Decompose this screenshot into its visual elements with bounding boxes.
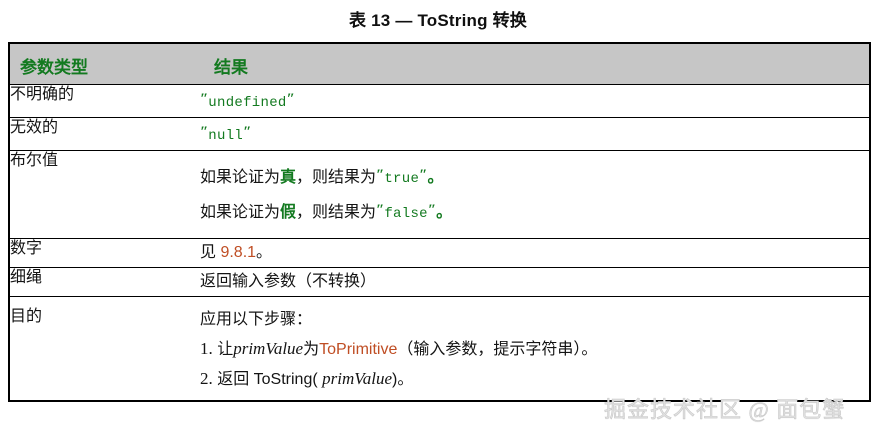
toprimitive-link[interactable]: ToPrimitive bbox=[319, 341, 397, 358]
tostring-call: ToString( bbox=[254, 371, 318, 388]
object-step-2: 2. 返回 ToString( primValue)。 bbox=[200, 364, 869, 394]
boolean-false-emphasis: 假 bbox=[280, 204, 296, 221]
row-type-object: 目的 bbox=[9, 297, 200, 402]
see-prefix: 见 bbox=[200, 244, 220, 261]
row-result-null: ″null″ bbox=[200, 118, 870, 151]
close-quote-glyph: ″ bbox=[428, 202, 436, 218]
code-false: false bbox=[384, 206, 428, 222]
column-header-result-label: 结果 bbox=[200, 44, 869, 78]
column-header-result: 结果 bbox=[200, 43, 870, 85]
boolean-true-period: 。 bbox=[427, 169, 443, 186]
step-2-close: )。 bbox=[392, 371, 413, 388]
step-2-variable: primValue bbox=[322, 369, 392, 388]
boolean-true-emphasis: 真 bbox=[280, 169, 296, 186]
tostring-conversion-table: 参数类型 结果 不明确的 ″undefined″ 无效的 ″null″ 布尔值 … bbox=[8, 42, 871, 402]
boolean-false-period: 。 bbox=[436, 204, 452, 221]
object-intro-line: 应用以下步骤： bbox=[200, 305, 869, 334]
step-1-be: 为 bbox=[303, 341, 319, 358]
table-row: 数字 见 9.8.1。 bbox=[9, 239, 870, 268]
table-row: 布尔值 如果论证为真，则结果为″true″。 如果论证为假，则结果为″false… bbox=[9, 151, 870, 239]
step-2-number: 2. bbox=[200, 369, 213, 388]
row-type-undefined: 不明确的 bbox=[9, 85, 200, 118]
table-row: 目的 应用以下步骤： 1. 让primValue为ToPrimitive（输入参… bbox=[9, 297, 870, 402]
row-result-undefined: ″undefined″ bbox=[200, 85, 870, 118]
boolean-false-line: 如果论证为假，则结果为″false″。 bbox=[200, 195, 869, 230]
see-suffix: 。 bbox=[256, 244, 272, 261]
step-1-let: 让 bbox=[217, 341, 233, 358]
row-result-number: 见 9.8.1。 bbox=[200, 239, 870, 268]
column-header-type: 参数类型 bbox=[9, 43, 200, 85]
table-row: 细绳 返回输入参数（不转换） bbox=[9, 268, 870, 297]
close-quote-glyph: ″ bbox=[243, 124, 251, 140]
close-quote-glyph: ″ bbox=[287, 91, 295, 107]
row-result-object: 应用以下步骤： 1. 让primValue为ToPrimitive（输入参数，提… bbox=[200, 297, 870, 402]
object-step-1: 1. 让primValue为ToPrimitive（输入参数，提示字符串）。 bbox=[200, 334, 869, 364]
row-type-boolean: 布尔值 bbox=[9, 151, 200, 239]
step-1-variable: primValue bbox=[233, 339, 303, 358]
code-true: true bbox=[384, 171, 419, 187]
boolean-false-prefix: 如果论证为 bbox=[200, 204, 280, 221]
row-type-null: 无效的 bbox=[9, 118, 200, 151]
table-header-row: 参数类型 结果 bbox=[9, 43, 870, 85]
code-null: null bbox=[208, 128, 243, 144]
step-1-args: （输入参数，提示字符串）。 bbox=[397, 341, 597, 358]
row-result-string: 返回输入参数（不转换） bbox=[200, 268, 870, 297]
step-1-number: 1. bbox=[200, 339, 213, 358]
row-result-boolean: 如果论证为真，则结果为″true″。 如果论证为假，则结果为″false″。 bbox=[200, 151, 870, 239]
section-link-9-8-1[interactable]: 9.8.1 bbox=[220, 244, 256, 261]
table-caption: 表 13 — ToString 转换 bbox=[0, 6, 876, 31]
table-row: 不明确的 ″undefined″ bbox=[9, 85, 870, 118]
row-type-number: 数字 bbox=[9, 239, 200, 268]
boolean-true-line: 如果论证为真，则结果为″true″。 bbox=[200, 160, 869, 195]
code-undefined: undefined bbox=[208, 95, 286, 111]
table-row: 无效的 ″null″ bbox=[9, 118, 870, 151]
table-header: 参数类型 结果 bbox=[9, 43, 870, 85]
boolean-false-middle: ，则结果为 bbox=[296, 204, 376, 221]
row-type-string: 细绳 bbox=[9, 268, 200, 297]
boolean-true-middle: ，则结果为 bbox=[296, 169, 376, 186]
table-body: 不明确的 ″undefined″ 无效的 ″null″ 布尔值 如果论证为真，则… bbox=[9, 85, 870, 402]
column-header-type-label: 参数类型 bbox=[10, 44, 200, 78]
step-2-return: 返回 bbox=[217, 371, 253, 388]
boolean-true-prefix: 如果论证为 bbox=[200, 169, 280, 186]
